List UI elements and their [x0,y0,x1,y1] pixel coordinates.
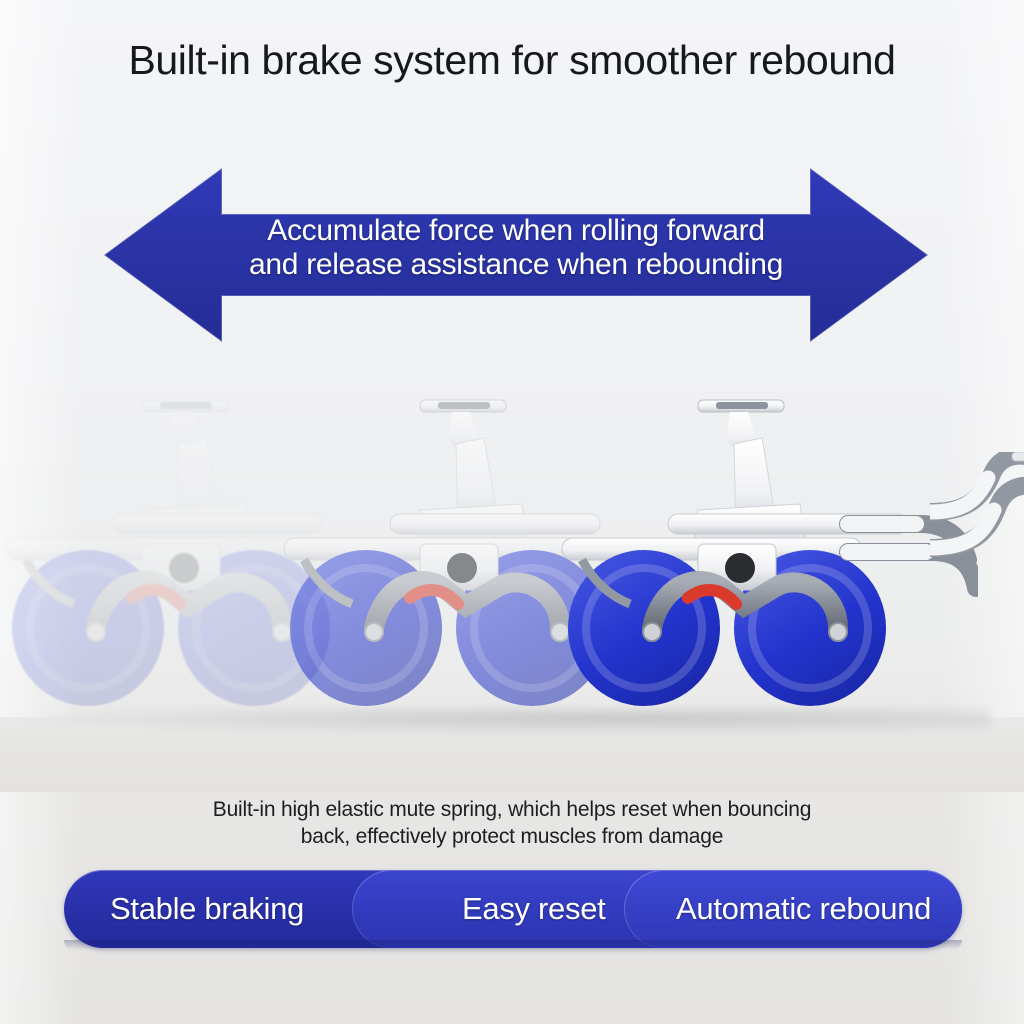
feature-pill-label: Automatic rebound [676,892,931,926]
product-photo [0,392,1024,792]
handlebar-right-section [930,452,1024,652]
arrow-text-line-2: and release assistance when rebounding [216,248,816,282]
feature-pill-automatic-rebound[interactable]: Automatic rebound [624,870,962,948]
product-instance-solid [548,392,978,792]
page-title: Built-in brake system for smoother rebou… [0,34,1024,86]
arrow-banner: Accumulate force when rolling forward an… [98,162,934,348]
product-feature-graphic: Built-in brake system for smoother rebou… [0,0,1024,1024]
product-caption: Built-in high elastic mute spring, which… [112,796,912,850]
caption-line-1: Built-in high elastic mute spring, which… [112,796,912,823]
caption-line-2: back, effectively protect muscles from d… [112,823,912,850]
arrow-text-line-1: Accumulate force when rolling forward [216,214,816,248]
arrow-banner-text: Accumulate force when rolling forward an… [216,214,816,282]
feature-pill-label: Easy reset [462,892,605,926]
feature-pill-group: Stable braking Easy reset Automatic rebo… [64,870,962,948]
feature-pill-label: Stable braking [110,892,304,926]
